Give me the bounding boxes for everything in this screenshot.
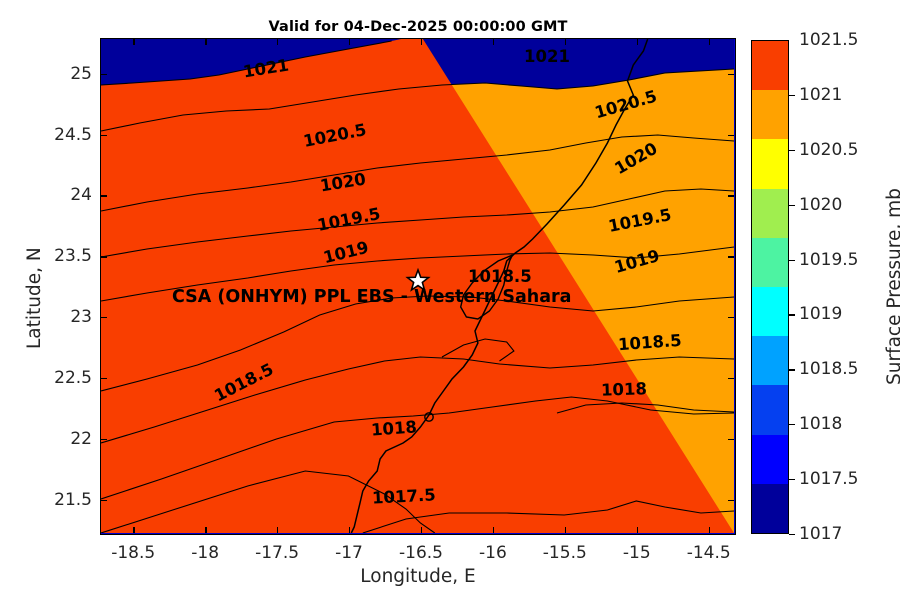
x-tick-label: -16.5	[399, 543, 443, 563]
colorbar-tick	[789, 205, 795, 206]
x-tick-label: -18	[191, 543, 219, 563]
x-tick	[565, 39, 566, 45]
colorbar-tick	[789, 150, 795, 151]
colorbar-band	[752, 189, 788, 238]
y-tick	[101, 500, 107, 501]
x-tick	[565, 527, 566, 533]
colorbar-band	[752, 385, 788, 434]
x-tick-label: -14.5	[687, 543, 731, 563]
colorbar-band	[752, 238, 788, 287]
colorbar-tick	[789, 95, 795, 96]
x-tick-label: -16	[479, 543, 507, 563]
y-axis-title: Latitude, N	[24, 247, 45, 349]
y-tick	[101, 74, 107, 75]
colorbar-tick-label: 1021.5	[799, 30, 858, 50]
colorbar[interactable]	[751, 40, 789, 534]
colorbar-band	[752, 90, 788, 139]
y-tick	[101, 317, 107, 318]
contour-label: 1018.5	[468, 267, 532, 286]
y-tick-label: 24	[52, 185, 92, 205]
colorbar-tick-label: 1018.5	[799, 359, 858, 379]
x-tick	[349, 527, 350, 533]
x-tick	[637, 527, 638, 533]
plot-title: Valid for 04-Dec-2025 00:00:00 GMT	[100, 19, 736, 35]
x-tick	[709, 527, 710, 533]
y-tick	[728, 439, 734, 440]
contour-label: 1018	[601, 379, 648, 400]
colorbar-tick	[789, 534, 795, 535]
y-tick	[728, 378, 734, 379]
y-tick	[728, 256, 734, 257]
x-tick	[349, 39, 350, 45]
colorbar-tick	[789, 479, 795, 480]
x-tick-label: -18.5	[111, 543, 155, 563]
y-tick	[728, 135, 734, 136]
colorbar-tick-label: 1021	[799, 85, 842, 105]
y-tick	[101, 439, 107, 440]
colorbar-band	[752, 41, 788, 90]
x-tick	[709, 39, 710, 45]
colorbar-tick-label: 1019	[799, 304, 842, 324]
colorbar-band	[752, 139, 788, 188]
colorbar-title: Surface Pressure, mb	[884, 188, 900, 385]
x-tick	[493, 39, 494, 45]
colorbar-band	[752, 287, 788, 336]
colorbar-tick	[789, 260, 795, 261]
y-tick	[101, 378, 107, 379]
x-tick-label: -17	[335, 543, 363, 563]
y-tick-label: 23.5	[52, 246, 92, 266]
colorbar-band	[752, 484, 788, 533]
y-tick-label: 25	[52, 64, 92, 84]
y-tick-label: 21.5	[52, 490, 92, 510]
x-tick	[637, 39, 638, 45]
colorbar-tick-label: 1020	[799, 195, 842, 215]
contour-label: 1021	[524, 47, 570, 66]
colorbar-tick	[789, 369, 795, 370]
x-tick	[133, 39, 134, 45]
x-tick	[277, 39, 278, 45]
colorbar-tick-label: 1018	[799, 414, 842, 434]
x-tick	[133, 527, 134, 533]
y-tick	[101, 135, 107, 136]
x-tick	[421, 527, 422, 533]
colorbar-tick-label: 1020.5	[799, 140, 858, 160]
colorbar-tick-label: 1017.5	[799, 469, 858, 489]
y-tick	[101, 256, 107, 257]
x-tick-label: -15.5	[543, 543, 587, 563]
colorbar-tick-label: 1017	[799, 524, 842, 544]
contour-label: 1017.5	[372, 485, 437, 507]
x-tick	[421, 39, 422, 45]
y-tick-label: 23	[52, 307, 92, 327]
colorbar-tick	[789, 314, 795, 315]
x-tick	[205, 39, 206, 45]
x-tick	[493, 527, 494, 533]
colorbar-tick-label: 1019.5	[799, 250, 858, 270]
y-tick	[101, 195, 107, 196]
x-tick-label: -15	[623, 543, 651, 563]
x-tick	[205, 527, 206, 533]
y-tick	[728, 195, 734, 196]
site-annotation-label: CSA (ONHYM) PPL EBS - Western Sahara	[172, 287, 572, 307]
y-tick-label: 22.5	[52, 368, 92, 388]
y-tick	[728, 500, 734, 501]
x-axis-title: Longitude, E	[100, 566, 736, 587]
figure-canvas: Valid for 04-Dec-2025 00:00:00 GMT -18.5…	[0, 0, 900, 600]
y-tick	[728, 317, 734, 318]
contour-label: 1018	[370, 417, 417, 439]
y-tick-label: 22	[52, 429, 92, 449]
x-tick	[277, 527, 278, 533]
y-tick	[728, 74, 734, 75]
y-tick-label: 24.5	[52, 125, 92, 145]
colorbar-band	[752, 336, 788, 385]
colorbar-band	[752, 435, 788, 484]
x-tick-label: -17.5	[255, 543, 299, 563]
colorbar-tick	[789, 424, 795, 425]
